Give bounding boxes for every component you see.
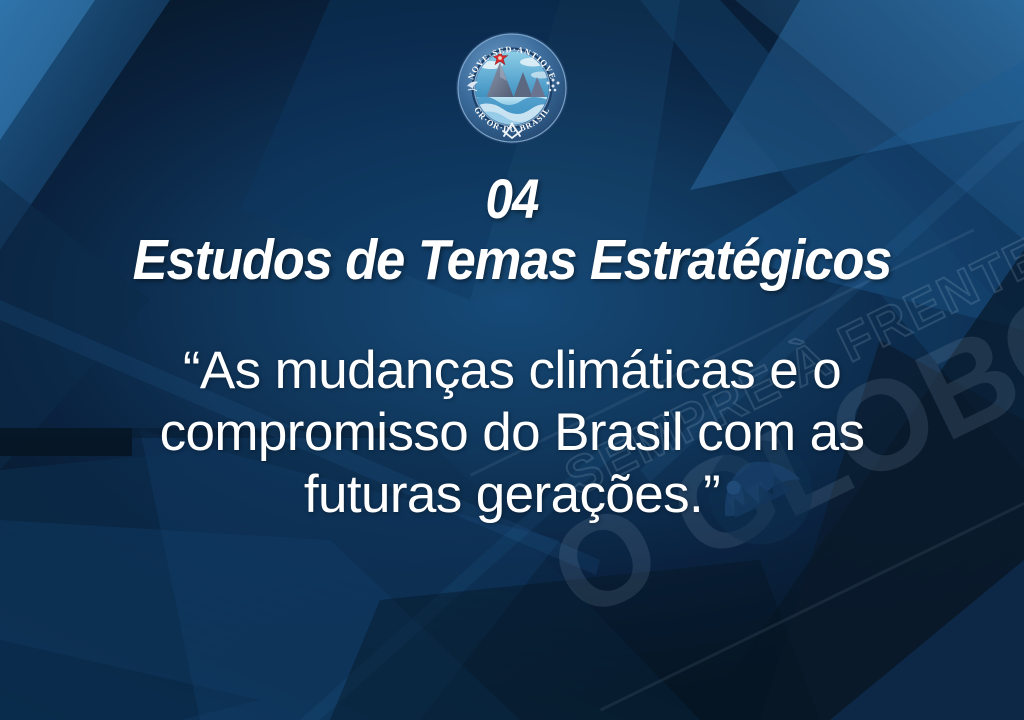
section-title: Estudos de Temas Estratégicos	[41, 232, 983, 289]
quote-line-1: “As mudanças climáticas e o	[0, 340, 1024, 402]
quote-line-3: futuras gerações.”	[0, 464, 1024, 526]
quote-text: “As mudanças climáticas e o compromisso …	[0, 340, 1024, 526]
presentation-slide: SEMPRE À FRENTE O GLOBO E VOCÊ	[0, 0, 1024, 720]
slide-number: 04	[61, 171, 962, 227]
slide-content: 04 Estudos de Temas Estratégicos “As mud…	[0, 0, 1024, 720]
quote-line-2: compromisso do Brasil com as	[0, 402, 1024, 464]
